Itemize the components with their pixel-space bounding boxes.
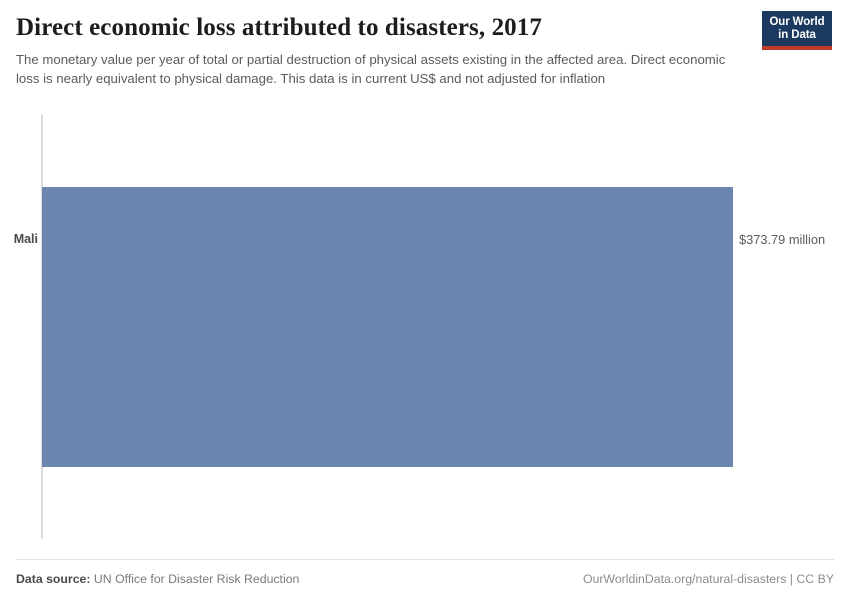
logo-line-two: in Data bbox=[762, 29, 832, 42]
attribution-link[interactable]: OurWorldinData.org/natural-disasters | C… bbox=[583, 572, 834, 586]
chart-header: Direct economic loss attributed to disas… bbox=[0, 0, 850, 89]
data-source-label: Data source: bbox=[16, 572, 91, 586]
data-source: Data source: UN Office for Disaster Risk… bbox=[16, 572, 299, 586]
chart-title: Direct economic loss attributed to disas… bbox=[16, 14, 756, 42]
bar-mali[interactable] bbox=[42, 187, 733, 467]
bar-value-label-mali: $373.79 million bbox=[739, 232, 825, 247]
logo-line-one: Our World bbox=[762, 16, 832, 29]
data-source-value: UN Office for Disaster Risk Reduction bbox=[91, 572, 300, 586]
plot-area: Mali $373.79 million bbox=[0, 101, 850, 559]
bar-row bbox=[0, 187, 850, 467]
chart-footer: Data source: UN Office for Disaster Risk… bbox=[16, 559, 834, 600]
chart-figure: Direct economic loss attributed to disas… bbox=[0, 0, 850, 600]
chart-subtitle: The monetary value per year of total or … bbox=[16, 50, 734, 89]
our-world-in-data-logo[interactable]: Our World in Data bbox=[762, 11, 832, 50]
